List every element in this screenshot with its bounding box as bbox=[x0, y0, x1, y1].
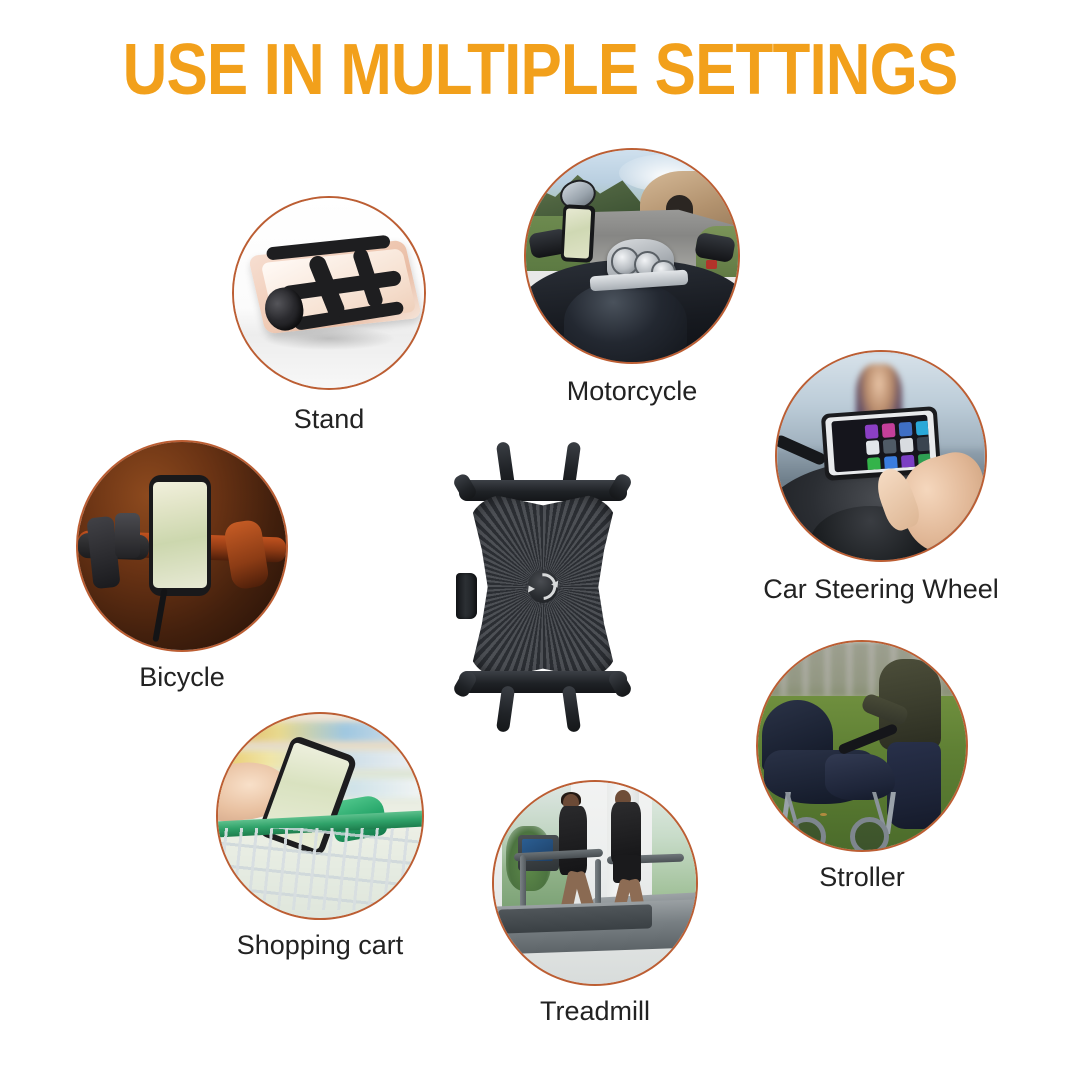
mc-fuel-tank bbox=[564, 281, 687, 364]
mc-control-button bbox=[706, 260, 717, 268]
tile-car-steering-wheel: Car Steering Wheel bbox=[775, 350, 987, 562]
tile-stroller: Stroller bbox=[756, 640, 968, 852]
cw-app-icon-5 bbox=[865, 440, 879, 455]
tile-caption-car-steering-wheel: Car Steering Wheel bbox=[763, 574, 999, 605]
cw-app-icon-6 bbox=[883, 439, 897, 454]
stand-circle-image bbox=[232, 196, 426, 390]
promo-graphic: USE IN MULTIPLE SETTINGS Stand bbox=[0, 0, 1080, 1079]
stand-scene bbox=[234, 198, 424, 388]
product-hook-bottom-outer-right bbox=[607, 669, 634, 700]
product-bar-bottom bbox=[459, 671, 626, 693]
product-mount-clip bbox=[456, 573, 478, 619]
st-pram-wheel-rear bbox=[787, 817, 826, 852]
cw-app-icon-2 bbox=[882, 422, 896, 437]
st-person-legs bbox=[887, 742, 941, 829]
tile-motorcycle: Motorcycle bbox=[524, 148, 740, 364]
motorcycle-scene bbox=[526, 150, 738, 362]
bicycle-scene bbox=[78, 442, 286, 650]
tm-person2-torso bbox=[611, 802, 641, 863]
tile-caption-shopping-cart: Shopping cart bbox=[237, 930, 404, 961]
tm-person1-torso bbox=[559, 806, 587, 875]
treadmill-scene bbox=[494, 782, 696, 984]
tile-shopping-cart: Shopping cart bbox=[216, 712, 424, 920]
tile-caption-treadmill: Treadmill bbox=[540, 996, 650, 1027]
stroller-scene bbox=[758, 642, 966, 850]
tm-window-right bbox=[652, 782, 698, 903]
motorcycle-circle-image bbox=[524, 148, 740, 364]
shopping-cart-circle-image bbox=[216, 712, 424, 920]
cw-app-icon-9 bbox=[867, 457, 881, 472]
tile-stand: Stand bbox=[232, 196, 426, 390]
cw-app-icon-7 bbox=[900, 438, 914, 453]
page-title: USE IN MULTIPLE SETTINGS bbox=[76, 32, 1005, 108]
bc-stem bbox=[115, 513, 140, 559]
sc-shelf-1 bbox=[218, 722, 422, 740]
tile-caption-stroller: Stroller bbox=[819, 862, 905, 893]
stand-shadow bbox=[264, 327, 393, 350]
st-pram-wheel-front bbox=[850, 817, 889, 852]
cw-app-icon-11 bbox=[901, 454, 915, 469]
product-phone-holder bbox=[452, 442, 634, 732]
shopping-cart-scene bbox=[218, 714, 422, 918]
sc-cart-basket bbox=[216, 828, 424, 910]
cw-app-icon-1 bbox=[864, 424, 878, 439]
treadmill-circle-image bbox=[492, 780, 698, 986]
cw-app-icon-8 bbox=[917, 436, 930, 451]
car-steering-wheel-circle-image bbox=[775, 350, 987, 562]
bc-phone-map-screen bbox=[153, 482, 207, 588]
stroller-circle-image bbox=[756, 640, 968, 852]
cw-phone-screen bbox=[831, 414, 930, 472]
bicycle-circle-image bbox=[76, 440, 288, 652]
car-steering-wheel-scene bbox=[777, 352, 985, 560]
tile-treadmill: Treadmill bbox=[492, 780, 698, 986]
tile-caption-bicycle: Bicycle bbox=[139, 662, 225, 693]
mc-phone-map-screen bbox=[564, 209, 592, 259]
product-center-emblem bbox=[528, 570, 559, 603]
tile-caption-stand: Stand bbox=[294, 404, 365, 435]
stand-arm-bottom bbox=[294, 301, 405, 331]
tile-caption-motorcycle: Motorcycle bbox=[567, 376, 698, 407]
product-bar-top bbox=[459, 480, 626, 502]
cw-app-icon-3 bbox=[899, 421, 913, 436]
tile-bicycle: Bicycle bbox=[76, 440, 288, 652]
